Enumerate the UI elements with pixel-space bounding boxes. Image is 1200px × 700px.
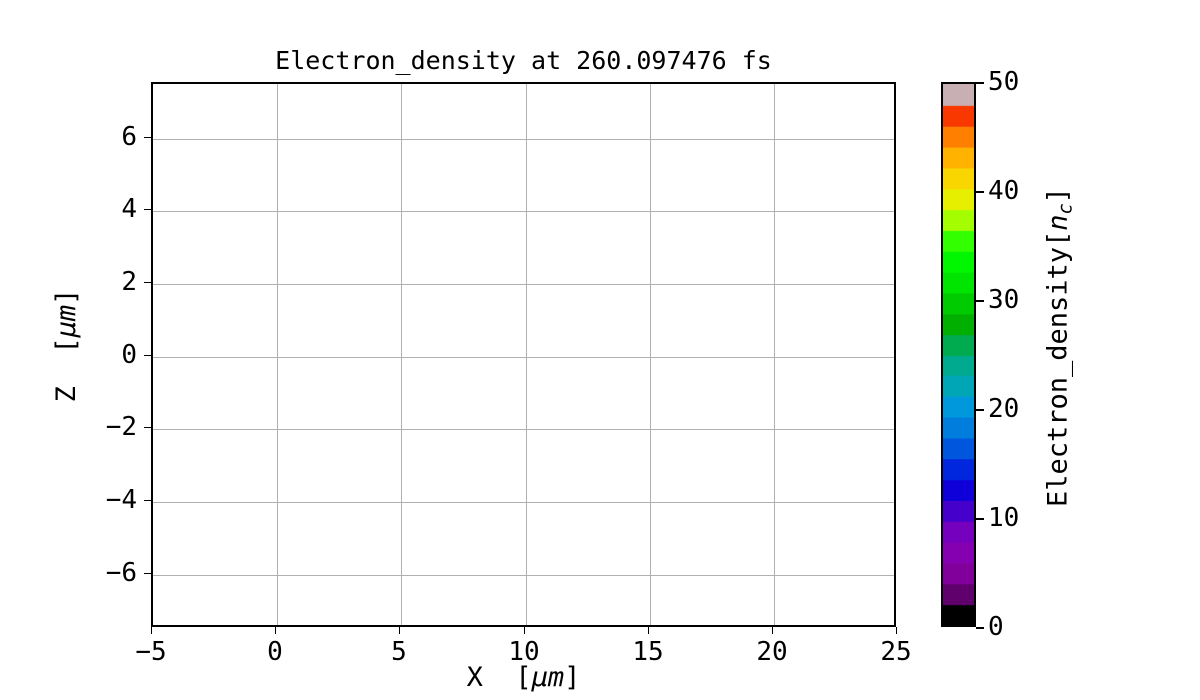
y-axis-label: Z [μm] [51, 73, 82, 618]
y-tick-mark [144, 427, 151, 428]
xlabel-micron: μm [532, 662, 565, 693]
y-tick-mark [144, 282, 151, 283]
x-tick-mark [648, 627, 649, 634]
colorbar-tick-mark [976, 518, 984, 520]
colorbar-tick-mark [976, 300, 984, 302]
colorbar-tick-mark [976, 409, 984, 411]
colorbar-tick-label: 30 [988, 285, 1019, 315]
colorbar-tick-mark [976, 627, 984, 629]
colorbar-tick-label: 20 [988, 394, 1019, 424]
colorbar-tick-mark [976, 191, 984, 193]
colorbar-gradient [943, 84, 974, 625]
colorbar-tick-label: 10 [988, 503, 1019, 533]
ylabel-suffix: ] [51, 289, 82, 305]
colorbar-label: Electron_density[nc] [1042, 75, 1076, 620]
x-tick-mark [275, 627, 276, 634]
x-tick-mark [151, 627, 152, 634]
x-tick-mark [399, 627, 400, 634]
plot-axes[interactable] [151, 82, 896, 627]
colorbar-tick-mark [976, 82, 984, 84]
cbar-label-subscript: c [1056, 203, 1077, 214]
y-tick-mark [144, 500, 151, 501]
cbar-label-suffix: ] [1042, 187, 1073, 203]
xlabel-prefix: X [ [467, 662, 532, 693]
y-tick-mark [144, 137, 151, 138]
x-tick-mark [772, 627, 773, 634]
cbar-label-prefix: Electron_density[ [1042, 231, 1073, 507]
x-tick-mark [524, 627, 525, 634]
cbar-label-n: n [1042, 214, 1073, 230]
ylabel-micron: μm [51, 305, 82, 338]
y-tick-mark [144, 209, 151, 210]
colorbar-tick-label: 40 [988, 176, 1019, 206]
colorbar-tick-label: 50 [988, 67, 1019, 97]
density-heatmap [153, 84, 894, 625]
xlabel-suffix: ] [564, 662, 580, 693]
colorbar-tick-label: 0 [988, 612, 1004, 642]
x-axis-label: X [μm] [151, 662, 896, 693]
x-tick-mark [896, 627, 897, 634]
plot-title: Electron_density at 260.097476 fs [151, 46, 896, 75]
figure-root: Electron_density at 260.097476 fs −50510… [0, 0, 1200, 700]
colorbar[interactable] [941, 82, 976, 627]
ylabel-prefix: Z [ [51, 337, 82, 402]
y-tick-mark [144, 355, 151, 356]
y-tick-mark [144, 573, 151, 574]
